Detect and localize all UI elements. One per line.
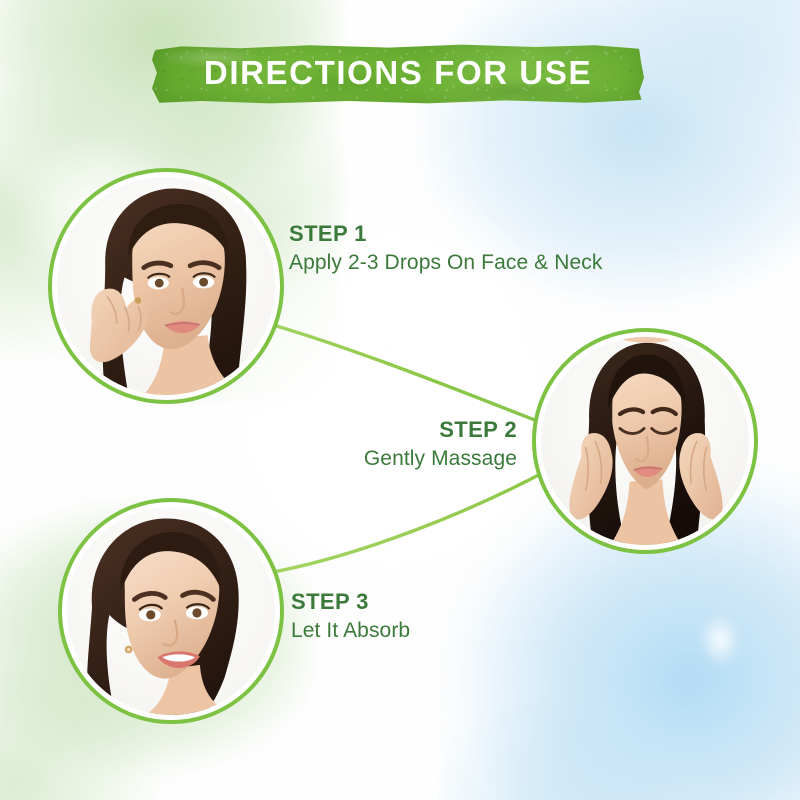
- woman-massaging-face-eyes-closed: [541, 337, 749, 545]
- connector-step1-to-step2: [263, 322, 545, 424]
- step-2-description: Gently Massage: [215, 445, 517, 472]
- earring-highlight: [127, 648, 130, 651]
- step-1-description: Apply 2-3 Drops On Face & Neck: [289, 249, 602, 276]
- step-2-label: STEP 2: [215, 418, 517, 441]
- step-3-label: STEP 3: [291, 590, 410, 613]
- step-3-text-block: STEP 3 Let It Absorb: [291, 590, 410, 644]
- eye-left-iris: [146, 610, 155, 619]
- step-1-photo-inner: [57, 177, 275, 395]
- step-2-photo-inner: [541, 337, 749, 545]
- woman-smiling-glowing-skin: [67, 507, 275, 715]
- connector-step2-to-step3: [268, 470, 548, 573]
- step-3-photo-inner: [67, 507, 275, 715]
- step-1-label: STEP 1: [289, 222, 602, 245]
- infographic-canvas: DIRECTIONS FOR USE: [0, 0, 800, 800]
- step-3-photo-circle: [58, 498, 284, 724]
- step-3-description: Let It Absorb: [291, 617, 410, 644]
- step-2-text-block: STEP 2 Gently Massage: [215, 418, 517, 472]
- step-1-text-block: STEP 1 Apply 2-3 Drops On Face & Neck: [289, 222, 602, 276]
- step-2-photo-circle: [532, 328, 758, 554]
- earring: [135, 297, 142, 304]
- step-1-photo-circle: [48, 168, 284, 404]
- woman-applying-serum-to-cheek: [57, 177, 275, 395]
- eye-left-iris: [155, 279, 164, 288]
- eye-right-iris: [192, 608, 201, 617]
- eye-right-iris: [199, 278, 208, 287]
